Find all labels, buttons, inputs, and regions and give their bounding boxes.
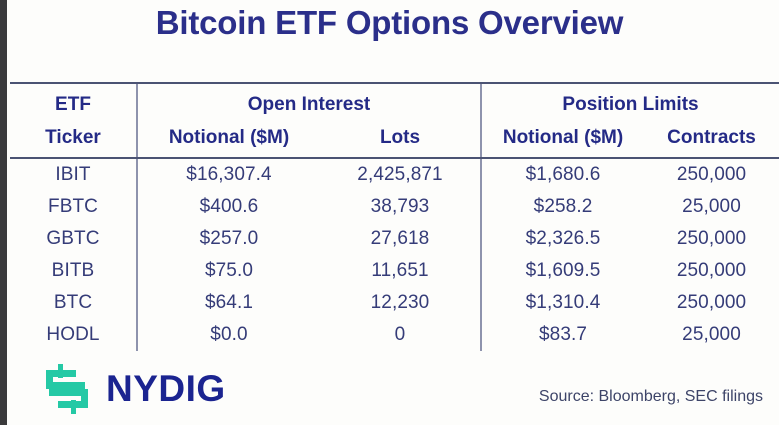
nydig-logo: NYDIG bbox=[40, 364, 226, 414]
cell-oi-notional: $64.1 bbox=[137, 287, 320, 319]
cell-pl-notional: $2,326.5 bbox=[481, 223, 644, 255]
table-row: GBTC$257.027,618$2,326.5250,000 bbox=[10, 223, 779, 255]
column-header-ticker: Ticker bbox=[10, 121, 137, 158]
cell-pl-contracts: 25,000 bbox=[644, 191, 779, 223]
cell-oi-lots: 2,425,871 bbox=[320, 158, 481, 191]
screenshot-canvas: Bitcoin ETF Options Overview ETF Open In… bbox=[0, 0, 779, 425]
cell-pl-contracts: 250,000 bbox=[644, 255, 779, 287]
column-group-open-interest: Open Interest bbox=[137, 83, 481, 121]
cell-oi-lots: 27,618 bbox=[320, 223, 481, 255]
etf-options-table: ETF Open Interest Position Limits Ticker… bbox=[10, 82, 779, 351]
table-row: FBTC$400.638,793$258.225,000 bbox=[10, 191, 779, 223]
table-row: BTC$64.112,230$1,310.4250,000 bbox=[10, 287, 779, 319]
cell-oi-notional: $0.0 bbox=[137, 319, 320, 351]
cell-pl-notional: $1,310.4 bbox=[481, 287, 644, 319]
column-group-ticker: ETF bbox=[10, 83, 137, 121]
table-group-header-row: ETF Open Interest Position Limits bbox=[10, 83, 779, 121]
cell-oi-lots: 0 bbox=[320, 319, 481, 351]
cell-oi-lots: 11,651 bbox=[320, 255, 481, 287]
etf-options-table-container: ETF Open Interest Position Limits Ticker… bbox=[10, 82, 779, 351]
footer: NYDIG Source: Bloomberg, SEC filings bbox=[0, 358, 779, 425]
cell-oi-notional: $16,307.4 bbox=[137, 158, 320, 191]
cell-oi-lots: 38,793 bbox=[320, 191, 481, 223]
source-note: Source: Bloomberg, SEC filings bbox=[539, 388, 763, 406]
table-row: IBIT$16,307.42,425,871$1,680.6250,000 bbox=[10, 158, 779, 191]
cell-oi-notional: $400.6 bbox=[137, 191, 320, 223]
column-header-oi-lots: Lots bbox=[320, 121, 481, 158]
table-body: IBIT$16,307.42,425,871$1,680.6250,000FBT… bbox=[10, 158, 779, 351]
nydig-wordmark: NYDIG bbox=[106, 369, 226, 409]
cell-oi-notional: $257.0 bbox=[137, 223, 320, 255]
cell-pl-contracts: 250,000 bbox=[644, 287, 779, 319]
table-subheader-row: Ticker Notional ($M) Lots Notional ($M) … bbox=[10, 121, 779, 158]
cell-pl-contracts: 250,000 bbox=[644, 223, 779, 255]
cell-ticker: BITB bbox=[10, 255, 137, 287]
column-group-position-limits: Position Limits bbox=[481, 83, 779, 121]
table-row: HODL$0.00$83.725,000 bbox=[10, 319, 779, 351]
cell-pl-contracts: 25,000 bbox=[644, 319, 779, 351]
nydig-dollar-mark-icon bbox=[40, 364, 94, 414]
column-header-pl-contracts: Contracts bbox=[644, 121, 779, 158]
cell-ticker: FBTC bbox=[10, 191, 137, 223]
cell-ticker: IBIT bbox=[10, 158, 137, 191]
cell-oi-lots: 12,230 bbox=[320, 287, 481, 319]
page-title: Bitcoin ETF Options Overview bbox=[0, 2, 779, 44]
cell-oi-notional: $75.0 bbox=[137, 255, 320, 287]
cell-pl-notional: $83.7 bbox=[481, 319, 644, 351]
cell-ticker: HODL bbox=[10, 319, 137, 351]
cell-pl-notional: $258.2 bbox=[481, 191, 644, 223]
table-row: BITB$75.011,651$1,609.5250,000 bbox=[10, 255, 779, 287]
cell-pl-notional: $1,680.6 bbox=[481, 158, 644, 191]
table-header: ETF Open Interest Position Limits Ticker… bbox=[10, 83, 779, 158]
left-edge-strip bbox=[0, 0, 7, 425]
column-header-oi-notional: Notional ($M) bbox=[137, 121, 320, 158]
cell-pl-notional: $1,609.5 bbox=[481, 255, 644, 287]
cell-ticker: GBTC bbox=[10, 223, 137, 255]
cell-pl-contracts: 250,000 bbox=[644, 158, 779, 191]
cell-ticker: BTC bbox=[10, 287, 137, 319]
column-header-pl-notional: Notional ($M) bbox=[481, 121, 644, 158]
